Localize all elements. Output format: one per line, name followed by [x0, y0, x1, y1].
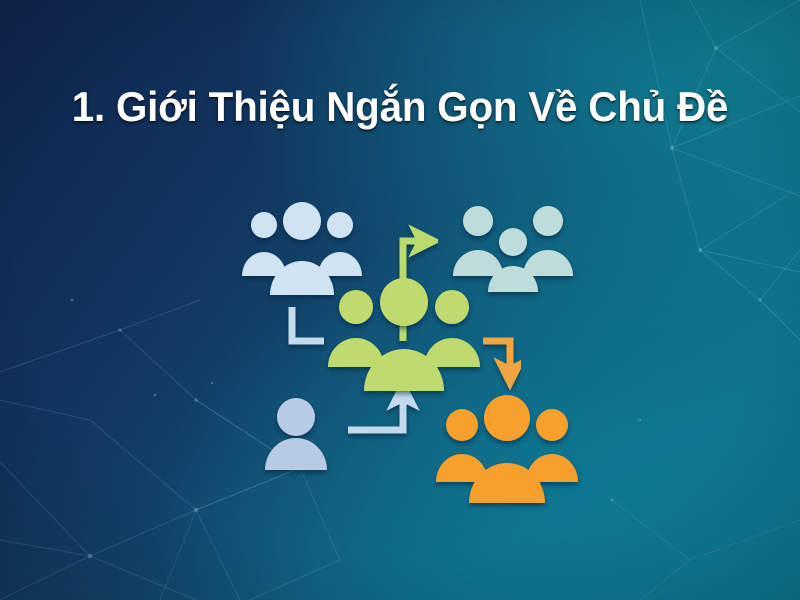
network-lines-top-right: [640, 0, 800, 340]
people-network-diagram: [240, 195, 590, 515]
people-group-icon: [242, 202, 362, 295]
people-group-icon: [453, 206, 573, 292]
person-icon: [265, 398, 327, 470]
group-teal[interactable]: [453, 206, 573, 292]
connector-blue-elbow: [292, 307, 324, 341]
person-single[interactable]: [265, 398, 327, 470]
group-light-blue[interactable]: [242, 202, 362, 295]
connector-orange-right-down: [483, 341, 510, 377]
page-title: 1. Giới Thiệu Ngắn Gọn Về Chủ Đề: [16, 84, 784, 130]
slide-canvas: 1. Giới Thiệu Ngắn Gọn Về Chủ Đề: [0, 0, 800, 600]
group-orange[interactable]: [436, 395, 578, 503]
connector-blue-right-up: [348, 391, 403, 430]
people-group-icon: [436, 395, 578, 503]
diagram-svg: [240, 195, 590, 515]
